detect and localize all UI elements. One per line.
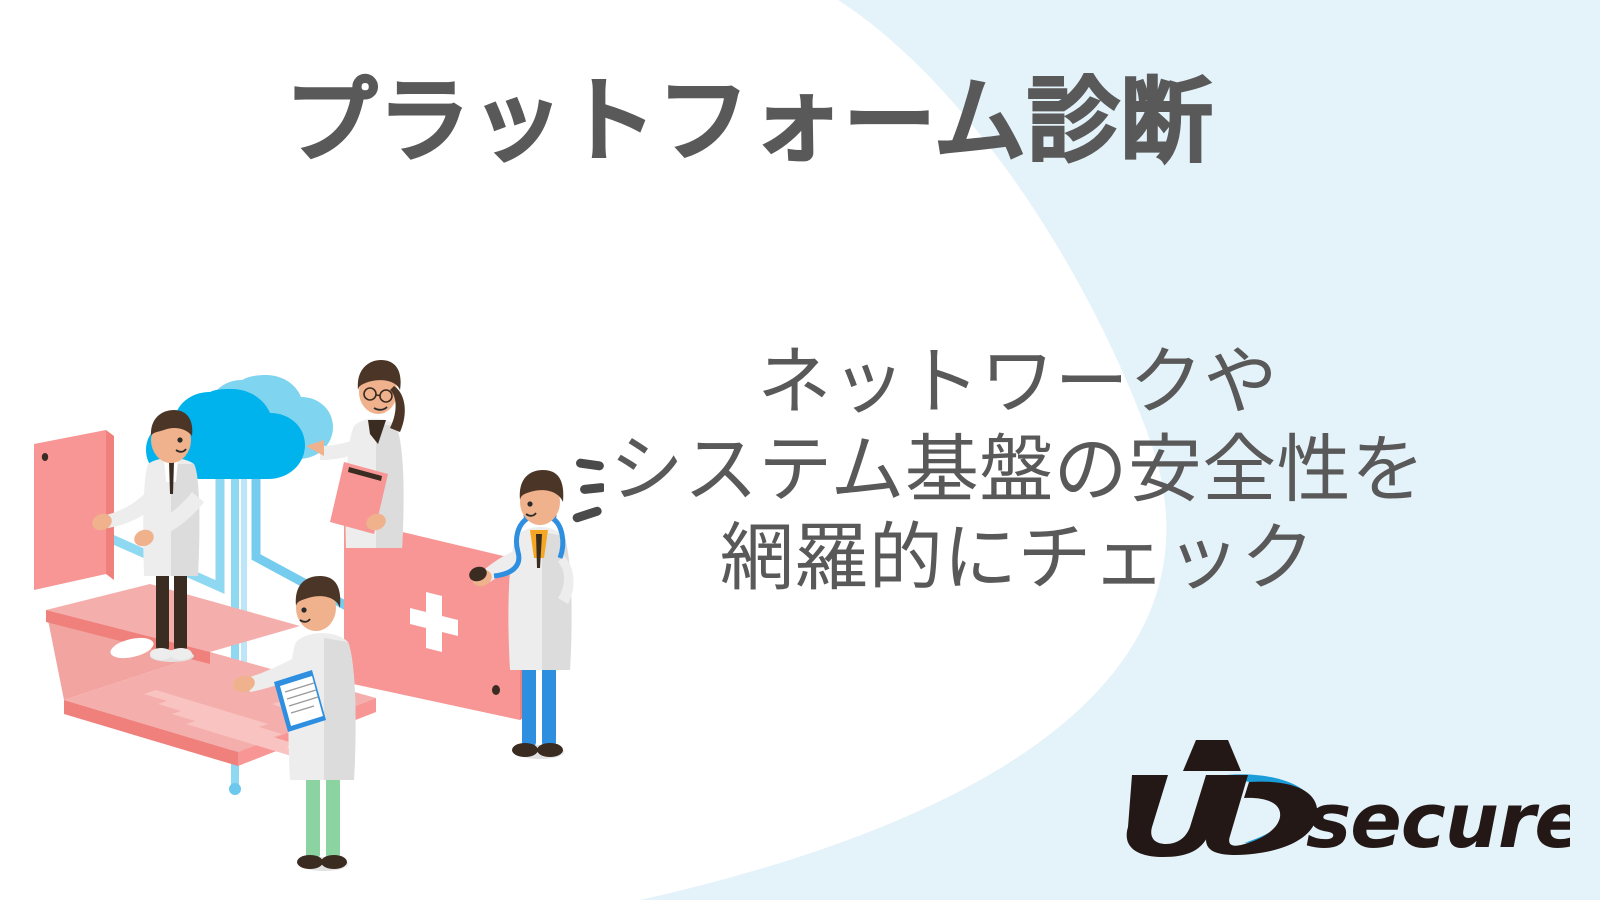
- tablet-camera-dot: [42, 453, 48, 461]
- doctor4-eye: [527, 501, 532, 506]
- slide-canvas: プラットフォーム診断 ネットワークや システム基盤の安全性を 網羅的にチェック …: [0, 0, 1600, 900]
- doctor1-leg-left: [156, 564, 169, 652]
- page-title: プラットフォーム診断: [285, 72, 1213, 171]
- doctor3-shoe-right: [321, 855, 347, 869]
- tagline-block: ネットワークや システム基盤の安全性を 網羅的にチェック: [500, 338, 1535, 602]
- doctor3-eye: [301, 607, 306, 612]
- doctor1-leg-right: [174, 564, 187, 652]
- doctor1-shoe-right: [170, 648, 192, 660]
- ubsecure-logo: secure: [1108, 735, 1570, 857]
- logo-letter-b: [1206, 775, 1317, 855]
- logo-wordmark-text: secure: [1306, 776, 1570, 857]
- cable-endpoint: [229, 783, 241, 795]
- tagline-line-2: システム基盤の安全性を: [500, 426, 1535, 514]
- illustration-scene: [24, 352, 604, 877]
- monitor-indicator-dot: [492, 685, 500, 695]
- logo-wordmark-secure: secure: [1306, 776, 1570, 857]
- doctor-with-clipboard-pointing: [306, 360, 405, 548]
- tablet-device: [34, 430, 114, 590]
- doctor3-coat-shadow: [324, 638, 356, 780]
- tagline-line-1: ネットワークや: [500, 338, 1535, 426]
- doctor4-shoe-left: [512, 743, 538, 757]
- doctor3-shoe-left: [297, 855, 323, 869]
- doctor1-shoe-left: [150, 648, 172, 660]
- doctor4-leg-left: [522, 658, 536, 748]
- tagline-line-3: 網羅的にチェック: [500, 514, 1535, 602]
- doctor3-leg-left: [306, 768, 320, 860]
- emphasis-marks: [571, 458, 604, 523]
- doctor3-leg-right: [326, 768, 340, 860]
- logo-triangle-accent: [1183, 740, 1241, 771]
- doctor4-leg-right: [542, 658, 556, 748]
- tablet-side-edge: [106, 430, 114, 580]
- monitor-device: [344, 518, 530, 720]
- doctor4-shoe-right: [537, 743, 563, 757]
- doctor1-eye: [177, 437, 182, 442]
